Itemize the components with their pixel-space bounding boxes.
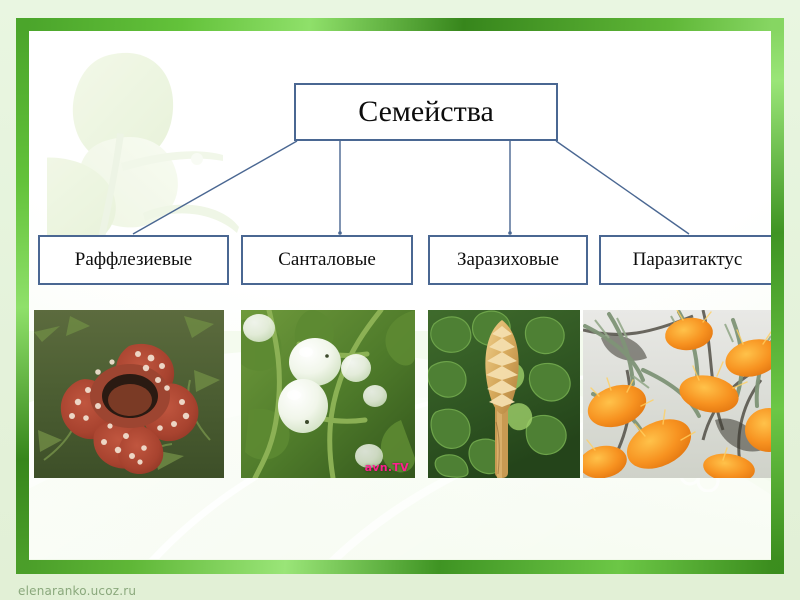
photo-broomrape[interactable] xyxy=(428,310,580,478)
photo-orange-parasite[interactable] xyxy=(583,310,771,478)
slide-green-frame: Семейства Раффлезиевые Санталовые Зарази… xyxy=(16,18,784,574)
leaf-watermark-icon xyxy=(47,37,337,267)
diagram-root-label: Семейства xyxy=(358,96,494,128)
diagram-node-rafflesiaceae[interactable]: Раффлезиевые xyxy=(38,235,229,285)
diagram-node-label: Раффлезиевые xyxy=(75,250,192,270)
slide-canvas: Семейства Раффлезиевые Санталовые Зарази… xyxy=(29,31,771,560)
photo-watermark: avn.TV xyxy=(365,461,409,474)
diagram-node-orobanchaceae[interactable]: Заразиховые xyxy=(428,235,588,285)
diagram-node-parasitaxus[interactable]: Паразитактус xyxy=(599,235,771,285)
slide-root: Семейства Раффлезиевые Санталовые Зарази… xyxy=(0,0,800,600)
diagram-node-santalaceae[interactable]: Санталовые xyxy=(241,235,413,285)
diagram-node-label: Санталовые xyxy=(278,250,376,270)
footer-credit: elenaranko.ucoz.ru xyxy=(18,584,136,598)
diagram-node-label: Паразитактус xyxy=(633,250,743,270)
photo-mistletoe[interactable]: avn.TV xyxy=(241,310,415,478)
diagram-root-node[interactable]: Семейства xyxy=(294,83,558,141)
photo-rafflesia[interactable] xyxy=(34,310,224,478)
diagram-node-label: Заразиховые xyxy=(457,250,559,270)
